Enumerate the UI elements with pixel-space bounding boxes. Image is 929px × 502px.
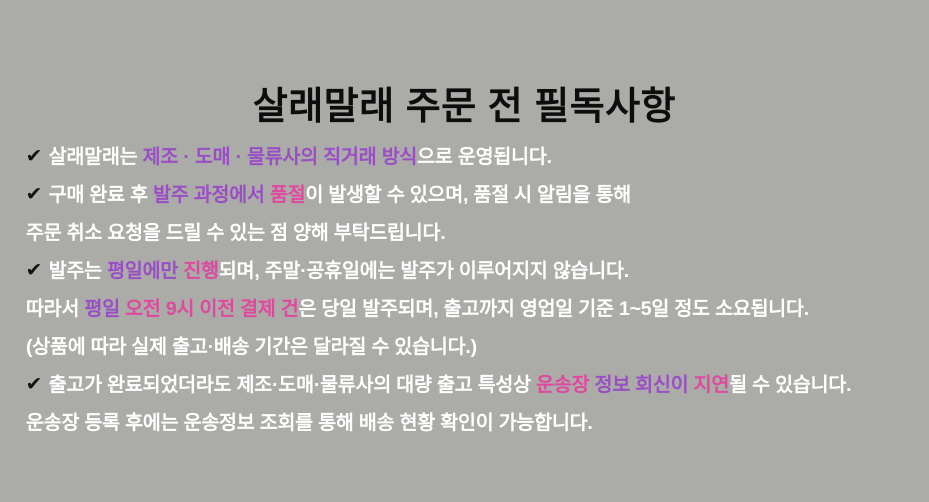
- notice-text-segment: 품절: [270, 184, 305, 206]
- notice-line: 주문 취소 요청을 드릴 수 있는 점 양해 부탁드립니다.: [26, 214, 916, 252]
- notice-line: ✔출고가 완료되었더라도 제조·도매·물류사의 대량 출고 특성상 운송장 정보…: [26, 366, 916, 404]
- notice-line: ✔발주는 평일에만 진행되며, 주말·공휴일에는 발주가 이루어지지 않습니다.: [26, 252, 916, 290]
- notice-line: 따라서 평일 오전 9시 이전 결제 건은 당일 발주되며, 출고까지 영업일 …: [26, 290, 916, 328]
- notice-text-segment: 될 수 있습니다.: [729, 374, 851, 396]
- notice-text-segment: 진행: [183, 260, 218, 282]
- notice-text-segment: 살래말래는: [49, 146, 143, 168]
- check-icon: ✔: [26, 366, 43, 404]
- notice-text-segment: 제조 · 도매 · 물류사의 직거래 방식: [143, 146, 418, 168]
- notice-text-segment: (상품에 따라 실제 출고·배송 기간은 달라질 수 있습니다.): [26, 336, 477, 358]
- notice-text-segment: 발주 과정에서: [153, 184, 270, 206]
- check-icon: ✔: [26, 252, 43, 290]
- check-icon: ✔: [26, 138, 43, 176]
- notice-text-segment: 은 당일 발주되며, 출고까지 영업일 기준 1~5일 정도 소요됩니다.: [299, 298, 809, 320]
- order-notice-banner: 살래말래 주문 전 필독사항 ✔살래말래는 제조 · 도매 · 물류사의 직거래…: [0, 0, 929, 502]
- notice-text-segment: 으로 운영됩니다.: [417, 146, 552, 168]
- notice-text-segment: 구매 완료 후: [49, 184, 153, 206]
- notice-text-segment: 주문 취소 요청을 드릴 수 있는 점 양해 부탁드립니다.: [26, 222, 446, 244]
- notice-text-block: ✔살래말래는 제조 · 도매 · 물류사의 직거래 방식으로 운영됩니다.✔구매…: [26, 138, 916, 442]
- notice-line: 운송장 등록 후에는 운송정보 조회를 통해 배송 현황 확인이 가능합니다.: [26, 404, 916, 442]
- notice-text-segment: 발주는: [49, 260, 107, 282]
- notice-text-segment: 평일에만: [107, 260, 183, 282]
- notice-line: ✔구매 완료 후 발주 과정에서 품절이 발생할 수 있으며, 품절 시 알림을…: [26, 176, 916, 214]
- notice-text-segment: 따라서: [26, 298, 84, 320]
- notice-text-segment: 오전 9시 이전 결제 건: [125, 298, 298, 320]
- notice-text-segment: 운송장: [536, 374, 594, 396]
- notice-text-segment: 되며, 주말·공휴일에는 발주가 이루어지지 않습니다.: [219, 260, 629, 282]
- notice-text-segment: 운송장 등록 후에는 운송정보 조회를 통해 배송 현황 확인이 가능합니다.: [26, 412, 593, 434]
- page-title: 살래말래 주문 전 필독사항: [0, 85, 929, 131]
- notice-text-segment: 출고가 완료되었더라도 제조·도매·물류사의 대량 출고 특성상: [49, 374, 536, 396]
- notice-text-segment: 정보 회신이: [595, 374, 694, 396]
- notice-line: (상품에 따라 실제 출고·배송 기간은 달라질 수 있습니다.): [26, 328, 916, 366]
- check-icon: ✔: [26, 176, 43, 214]
- notice-text-segment: 평일: [84, 298, 125, 320]
- notice-text-segment: 지연: [694, 374, 729, 396]
- notice-text-segment: 이 발생할 수 있으며, 품절 시 알림을 통해: [305, 184, 631, 206]
- notice-line: ✔살래말래는 제조 · 도매 · 물류사의 직거래 방식으로 운영됩니다.: [26, 138, 916, 176]
